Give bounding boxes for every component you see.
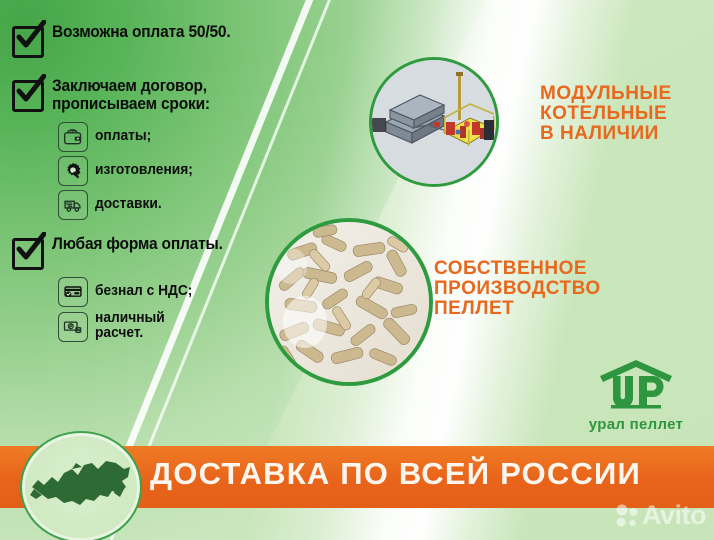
sub-benefit-item: оплаты;: [58, 122, 300, 152]
avito-wordmark: Avito: [642, 500, 706, 531]
sub-benefit-label: оплаты;: [95, 129, 151, 144]
modular-boiler-house-photo: [369, 57, 499, 187]
checkbox-checked-icon: [12, 80, 44, 112]
banner-text: ДОСТАВКА ПО ВСЕЙ РОССИИ: [150, 456, 710, 492]
gear-wrench-icon: [58, 156, 88, 186]
sub-benefit-label: наличный расчет.: [95, 311, 165, 341]
benefit-item: Заключаем договор, прописываем сроки:: [12, 78, 300, 114]
poster-canvas: Возможна оплата 50/50. Заключаем договор…: [0, 0, 714, 540]
benefit-item: Любая форма оплаты.: [12, 236, 300, 270]
benefit-label: Заключаем договор, прописываем сроки:: [52, 78, 210, 114]
avito-watermark: Avito: [614, 500, 706, 531]
wood-pellets-photo: [265, 218, 433, 386]
cash-money-icon: [58, 312, 88, 342]
benefit-item: Возможна оплата 50/50.: [12, 24, 300, 58]
boiler-headline: МОДУЛЬНЫЕ КОТЕЛЬНЫЕ В НАЛИЧИИ: [540, 84, 672, 143]
benefit-label: Возможна оплата 50/50.: [52, 24, 230, 42]
checkbox-checked-icon: [12, 26, 44, 58]
benefits-list: Возможна оплата 50/50. Заключаем договор…: [0, 0, 300, 440]
sub-benefit-label: безнал с НДС;: [95, 284, 192, 299]
wallet-icon: [58, 122, 88, 152]
sub-benefit-item: изготовления;: [58, 156, 300, 186]
sub-benefit-item: наличный расчет.: [58, 311, 300, 342]
sub-benefit-item: доставки.: [58, 190, 300, 220]
delivery-truck-icon: [58, 190, 88, 220]
sub-benefit-item: безнал с НДС;: [58, 277, 300, 307]
pellet-headline: СОБСТВЕННОЕ ПРОИЗВОДСТВО ПЕЛЛЕТ: [434, 259, 601, 318]
up-house-monogram: [597, 358, 675, 414]
logo-text: урал пеллет: [573, 416, 699, 433]
sub-benefit-label: доставки.: [95, 197, 162, 212]
checkbox-checked-icon: [12, 238, 44, 270]
sub-benefit-label: изготовления;: [95, 163, 193, 178]
credit-card-icon: [58, 277, 88, 307]
benefit-label: Любая форма оплаты.: [52, 236, 223, 254]
company-logo: урал пеллет: [573, 358, 699, 430]
avito-dots-icon: [614, 503, 640, 529]
russia-map-icon: [20, 431, 142, 540]
